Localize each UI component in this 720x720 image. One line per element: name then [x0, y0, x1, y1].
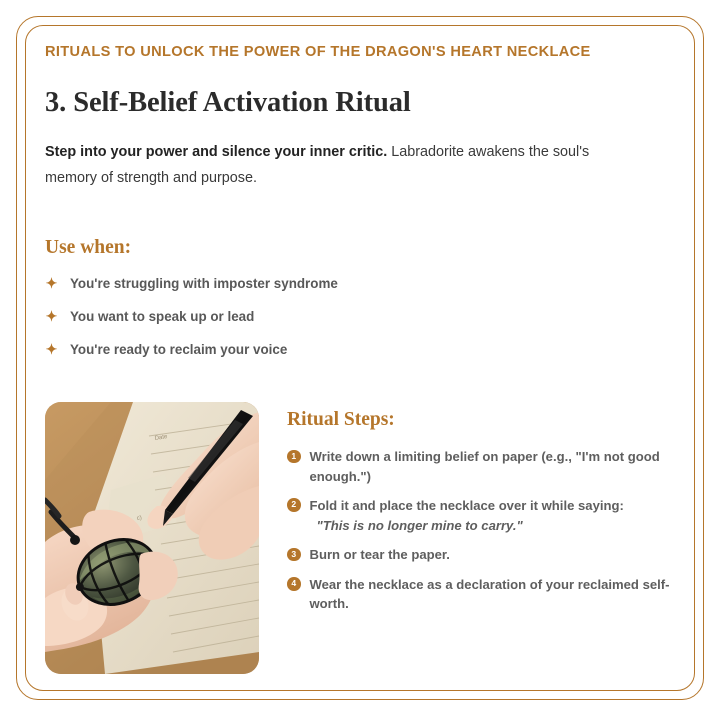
list-item: ✦ You're ready to reclaim your voice	[45, 341, 675, 359]
page-title: 3. Self-Belief Activation Ritual	[45, 87, 675, 120]
step-text: Burn or tear the paper.	[310, 545, 450, 564]
step-text: Wear the necklace as a declaration of yo…	[310, 575, 678, 613]
ritual-photo: Date c)	[45, 402, 259, 674]
list-item: 2 Fold it and place the necklace over it…	[287, 496, 677, 535]
eyebrow-heading: RITUALS TO UNLOCK THE POWER OF THE DRAGO…	[45, 44, 675, 62]
step-text-group: Fold it and place the necklace over it w…	[310, 496, 624, 535]
ritual-steps-list: 1 Write down a limiting belief on paper …	[287, 447, 677, 613]
ritual-steps-heading: Ritual Steps:	[287, 408, 677, 431]
intro-paragraph: Step into your power and silence your in…	[45, 140, 625, 191]
list-item: 3 Burn or tear the paper.	[287, 545, 677, 564]
step-number-badge: 1	[287, 450, 301, 464]
step-number-badge: 3	[287, 548, 301, 562]
sparkle-icon: ✦	[45, 275, 58, 293]
list-item: 4 Wear the necklace as a declaration of …	[287, 575, 677, 613]
list-item: ✦ You're struggling with imposter syndro…	[45, 275, 675, 293]
ritual-card-page: RITUALS TO UNLOCK THE POWER OF THE DRAGO…	[0, 0, 720, 720]
use-when-list: ✦ You're struggling with imposter syndro…	[45, 275, 675, 359]
use-when-item-label: You're struggling with imposter syndrome	[70, 275, 338, 293]
svg-text:c): c)	[136, 515, 142, 522]
step-number-badge: 2	[287, 498, 301, 512]
content-column: RITUALS TO UNLOCK THE POWER OF THE DRAGO…	[45, 44, 675, 374]
list-item: ✦ You want to speak up or lead	[45, 308, 675, 326]
use-when-item-label: You want to speak up or lead	[70, 308, 254, 326]
step-text: Fold it and place the necklace over it w…	[310, 498, 624, 513]
intro-lead-bold: Step into your power and silence your in…	[45, 144, 387, 160]
use-when-item-label: You're ready to reclaim your voice	[70, 341, 287, 359]
use-when-heading: Use when:	[45, 236, 675, 259]
sparkle-icon: ✦	[45, 341, 58, 359]
bottom-section: Date c)	[45, 402, 677, 674]
list-item: 1 Write down a limiting belief on paper …	[287, 447, 677, 485]
sparkle-icon: ✦	[45, 308, 58, 326]
step-quote: "This is no longer mine to carry."	[310, 516, 624, 535]
ritual-photo-illustration: Date c)	[45, 402, 259, 674]
ritual-steps-column: Ritual Steps: 1 Write down a limiting be…	[287, 402, 677, 623]
step-number-badge: 4	[287, 577, 301, 591]
step-text: Write down a limiting belief on paper (e…	[310, 447, 678, 485]
